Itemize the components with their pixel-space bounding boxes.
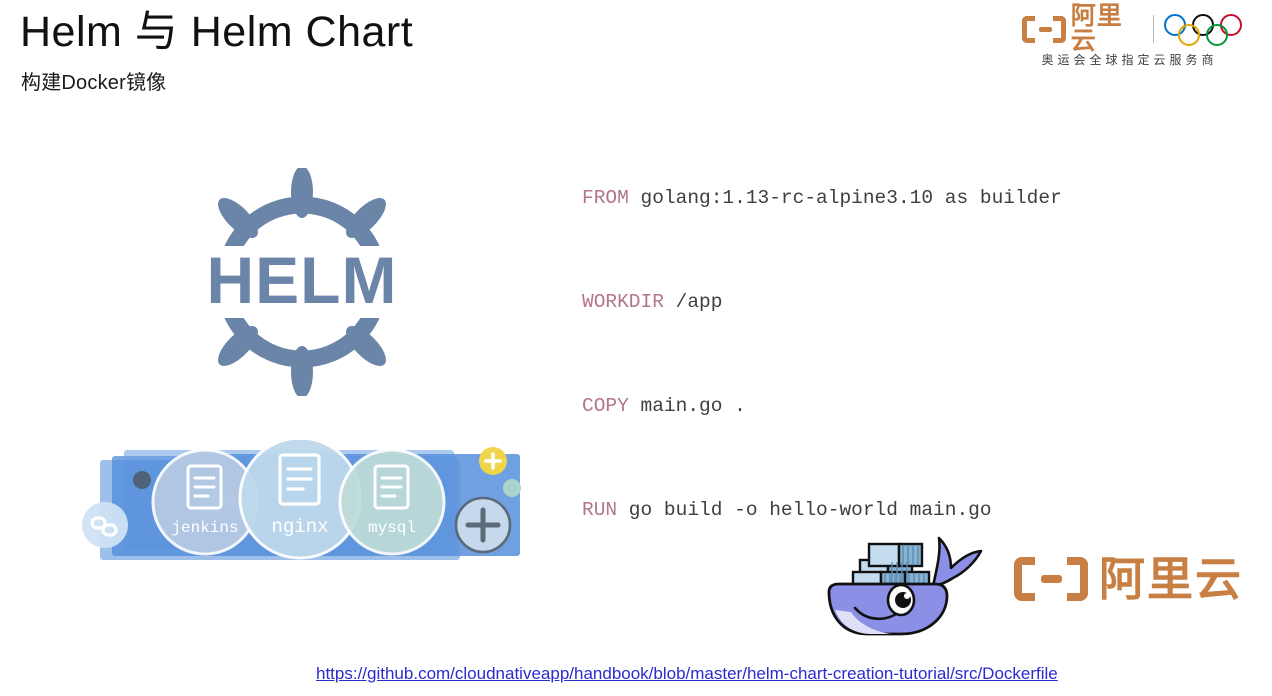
code-args: golang:1.13-rc-alpine3.10 as builder: [629, 187, 1062, 209]
svg-text:HELM: HELM: [207, 243, 398, 317]
source-url-link[interactable]: https://github.com/cloudnativeapp/handbo…: [316, 664, 1058, 684]
docker-whale-icon: [815, 524, 995, 644]
code-keyword: WORKDIR: [582, 291, 664, 313]
code-line: COPY main.go .: [582, 389, 1202, 424]
code-line: WORKDIR /app: [582, 285, 1202, 320]
code-keyword: FROM: [582, 187, 629, 209]
code-keyword: COPY: [582, 395, 629, 417]
code-args: main.go .: [629, 395, 746, 417]
aliyun-footer-brand-name: 阿里云: [1099, 556, 1243, 602]
olympic-rings-icon: [1164, 12, 1237, 46]
code-keyword: RUN: [582, 499, 617, 521]
code-args: go build -o hello-world main.go: [617, 499, 991, 521]
slide-canvas: Helm 与 Helm Chart 构建Docker镜像 阿里云 奥运会全球: [0, 0, 1272, 696]
svg-text:nginx: nginx: [271, 516, 328, 538]
page-title: Helm 与 Helm Chart: [20, 8, 413, 57]
helm-wheel-logo: HELM: [186, 168, 418, 396]
page-subtitle: 构建Docker镜像: [21, 66, 166, 95]
aliyun-bracket-icon-large: [1014, 557, 1088, 601]
aliyun-header-logo: 阿里云 奥运会全球指定云服务商: [1022, 10, 1237, 72]
helm-chart-packages-illustration: jenkins nginx mysql: [72, 440, 527, 565]
aliyun-mark: 阿里云: [1022, 4, 1143, 54]
aliyun-bracket-icon: [1022, 16, 1066, 43]
svg-text:mysql: mysql: [368, 519, 416, 537]
brand-tagline: 奥运会全球指定云服务商: [1022, 51, 1237, 68]
code-args: /app: [664, 291, 723, 313]
brand-divider: [1153, 15, 1154, 43]
brand-logo-row: 阿里云: [1022, 10, 1237, 48]
code-line: FROM golang:1.13-rc-alpine3.10 as builde…: [582, 181, 1202, 216]
code-line: RUN go build -o hello-world main.go: [582, 493, 1202, 528]
aliyun-brand-name: 阿里云: [1071, 4, 1144, 54]
aliyun-footer-logo: 阿里云: [1014, 556, 1243, 602]
svg-text:jenkins: jenkins: [171, 519, 238, 537]
